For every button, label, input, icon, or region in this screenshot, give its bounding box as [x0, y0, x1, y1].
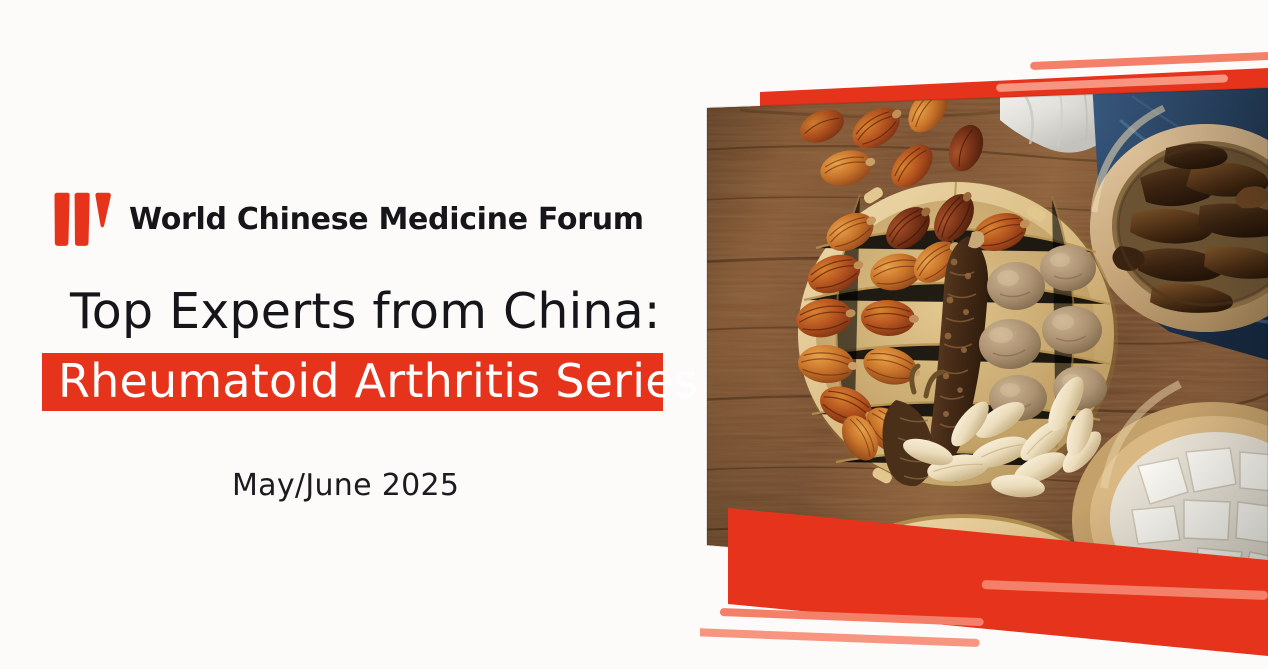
- brand-wordmark: World Chinese Medicine Forum: [129, 205, 644, 235]
- event-date: May/June 2025: [232, 468, 459, 503]
- artwork-panel: [700, 0, 1268, 669]
- text-column: World Chinese Medicine Forum Top Experts…: [0, 0, 700, 669]
- promo-banner: World Chinese Medicine Forum Top Experts…: [0, 0, 1268, 669]
- headline-primary: Top Experts from China:: [70, 286, 661, 339]
- artwork-composition: [700, 0, 1268, 669]
- headline-highlight-band: Rheumatoid Arthritis Series: [42, 353, 663, 411]
- w-monogram-icon: [52, 192, 114, 248]
- brand-logo-lockup: World Chinese Medicine Forum: [52, 192, 644, 248]
- headline-secondary: Rheumatoid Arthritis Series: [42, 358, 698, 404]
